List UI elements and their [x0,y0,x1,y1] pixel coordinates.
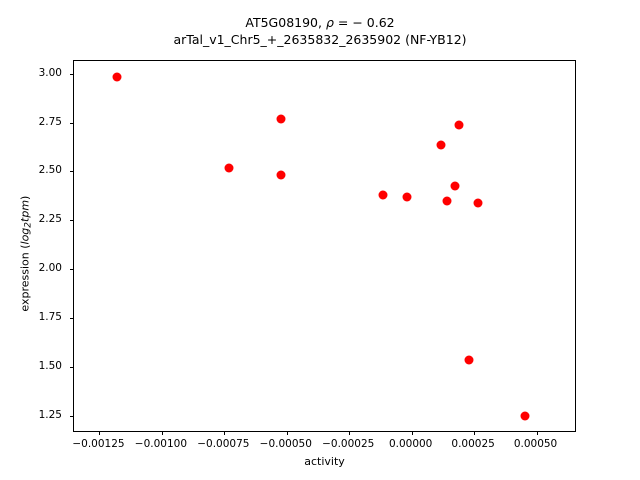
y-axis-tick-label: 1.50 [0,360,62,372]
data-point [436,141,445,150]
x-axis-tick [99,431,100,435]
y-axis-tick [70,416,74,417]
x-axis-label: activity [73,455,576,468]
data-point [276,115,285,124]
y-axis-tick [70,171,74,172]
plot-surface [74,61,575,431]
x-axis-tick-label: −0.00075 [197,438,249,450]
data-point [403,193,412,202]
data-point [225,164,234,173]
data-point [520,412,529,421]
x-axis-tick [474,431,475,435]
data-point [276,170,285,179]
y-label-log-subscript: 2 [24,222,34,228]
x-axis-tick-label: −0.00025 [322,438,374,450]
title-gene-id: AT5G08190 [245,15,318,30]
x-axis-tick [349,431,350,435]
y-label-suffix: ) [18,196,31,200]
x-axis-tick-label: 0.00050 [514,438,557,450]
scatter-plot-figure: AT5G08190, ρ = − 0.62 arTal_v1_Chr5_+_26… [0,0,640,480]
data-point [455,120,464,129]
y-label-prefix: expression ( [18,244,31,311]
data-point [474,199,483,208]
y-axis-tick-label: 3.00 [0,67,62,79]
y-axis-tick [70,74,74,75]
data-point [379,190,388,199]
figure-title: AT5G08190, ρ = − 0.62 arTal_v1_Chr5_+_26… [0,14,640,48]
rho-value: − 0.62 [352,15,394,30]
y-axis-tick-label: 1.25 [0,409,62,421]
data-point [442,196,451,205]
data-point [464,355,473,364]
data-point [112,72,121,81]
x-axis-tick [412,431,413,435]
y-axis-label: expression (log2tpm) [18,154,33,354]
title-equals: = [334,15,352,30]
x-axis-tick [287,431,288,435]
title-line-2: arTal_v1_Chr5_+_2635832_2635902 (NF-YB12… [0,31,640,48]
y-axis-tick [70,367,74,368]
x-axis-tick-label: −0.00125 [72,438,124,450]
x-axis-tick-label: −0.00050 [260,438,312,450]
rho-symbol: ρ [326,15,334,30]
data-point [450,181,459,190]
y-label-log: log [18,228,31,245]
x-axis-tick-label: 0.00025 [451,438,494,450]
x-axis-tick-label: 0.00000 [389,438,432,450]
x-axis-tick [224,431,225,435]
title-line-1: AT5G08190, ρ = − 0.62 [0,14,640,31]
y-label-tpm: tpm [18,200,31,222]
y-axis-tick [70,220,74,221]
x-axis-tick [537,431,538,435]
y-axis-tick [70,123,74,124]
title-separator: , [318,15,326,30]
x-axis-tick-label: −0.00100 [135,438,187,450]
x-axis-tick [162,431,163,435]
y-axis-tick [70,318,74,319]
plot-axes [73,60,576,432]
y-axis-tick-label: 2.75 [0,116,62,128]
y-axis-tick [70,269,74,270]
